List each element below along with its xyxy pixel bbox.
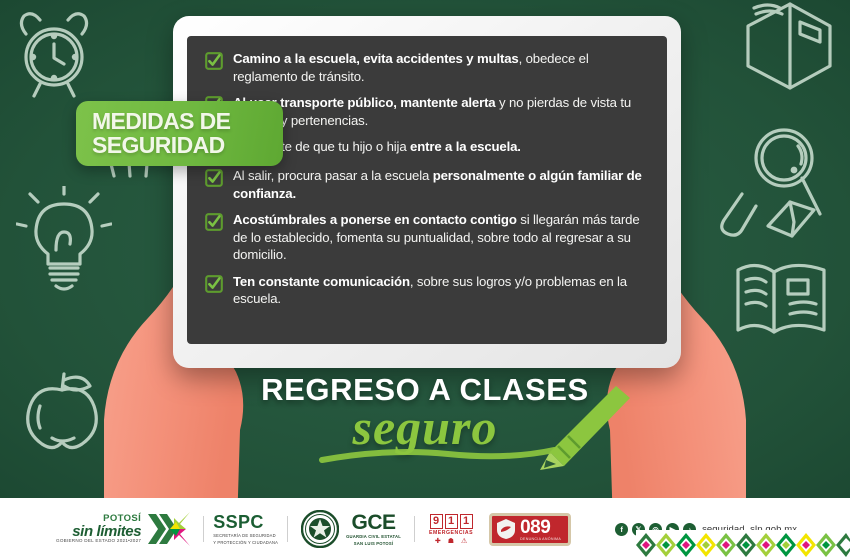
safety-tip-text: Al usar transporte público, mantente ale…: [233, 94, 651, 129]
safety-tip-text: Al salir, procura pasar a la escuela per…: [233, 167, 651, 202]
sspc-line-1: SECRETARÍA DE SEGURIDAD: [213, 533, 278, 538]
denuncia-089-logo: 089 DENUNCIA ANÓNIMA: [489, 513, 571, 546]
089-number: 089: [520, 518, 561, 537]
checkbox-checked-icon: [205, 52, 223, 70]
safety-tip-item: Ten constante comunicación, sobre sus lo…: [205, 273, 651, 308]
potosi-glyph-icon: [146, 510, 194, 548]
footer-bar: POTOSÍ sin límites GOBIERNO DEL ESTADO 2…: [0, 498, 850, 560]
logo-sspc: SSPC SECRETARÍA DE SEGURIDAD Y PROTECCIÓ…: [213, 513, 278, 545]
safety-tip-text: Camino a la escuela, evita accidentes y …: [233, 50, 651, 85]
911-label: EMERGENCIAS: [429, 530, 473, 536]
footer-divider-2: [287, 516, 288, 542]
911-digit-1: 9: [430, 514, 443, 529]
headline-block: REGRESO A CLASES seguro: [0, 372, 850, 449]
sspc-acronym: SSPC: [213, 513, 278, 531]
badge-line-2: SEGURIDAD: [92, 134, 230, 157]
underline-stroke: [318, 444, 558, 466]
safety-tips-list: Camino a la escuela, evita accidentes y …: [205, 50, 651, 308]
decorative-pattern-band: [636, 530, 850, 560]
089-label: DENUNCIA ANÓNIMA: [520, 537, 561, 541]
safety-tip-item: Acostúmbrales a ponerse en contacto cont…: [205, 211, 651, 264]
logo-potosi-sin-limites: POTOSÍ sin límites GOBIERNO DEL ESTADO 2…: [56, 510, 194, 548]
police-badge-icon: ☗: [448, 537, 454, 545]
badge-text: MEDIDAS DE SEGURIDAD: [92, 110, 230, 157]
poster-canvas: Camino a la escuela, evita accidentes y …: [0, 0, 850, 560]
tablet-screen: Camino a la escuela, evita accidentes y …: [187, 36, 667, 344]
medical-cross-icon: ✚: [435, 537, 441, 545]
gce-line-1: GUARDIA CIVIL ESTATAL: [346, 534, 401, 539]
facebook-icon[interactable]: f: [615, 523, 628, 536]
fire-icon: ⚠: [461, 537, 467, 545]
checkbox-checked-icon: [205, 213, 223, 231]
gce-acronym: GCE: [352, 512, 396, 533]
911-digits: 9 1 1: [430, 514, 473, 529]
gce-line-2: SAN LUIS POTOSÍ: [354, 541, 393, 546]
emergency-911-logo: 9 1 1 EMERGENCIAS ✚ ☗ ⚠: [429, 514, 473, 545]
911-service-icons: ✚ ☗ ⚠: [435, 537, 467, 545]
911-digit-3: 1: [460, 514, 473, 529]
safety-tip-item: Camino a la escuela, evita accidentes y …: [205, 50, 651, 85]
footer-divider-1: [203, 516, 204, 542]
safety-tip-item: Al salir, procura pasar a la escuela per…: [205, 167, 651, 202]
logo-gce: GCE GUARDIA CIVIL ESTATAL SAN LUIS POTOS…: [346, 512, 401, 546]
tablet-device: Camino a la escuela, evita accidentes y …: [173, 16, 681, 368]
safety-tip-text: Acostúmbrales a ponerse en contacto cont…: [233, 211, 651, 264]
shield-089-icon: [496, 518, 516, 540]
safety-tip-text: Ten constante comunicación, sobre sus lo…: [233, 273, 651, 308]
guardia-civil-seal-icon: [301, 510, 339, 548]
911-digit-2: 1: [445, 514, 458, 529]
potosi-line-2: sin límites: [56, 524, 141, 539]
footer-divider-3: [414, 516, 415, 542]
checkbox-checked-icon: [205, 275, 223, 293]
badge-line-1: MEDIDAS DE: [92, 110, 230, 133]
medidas-de-seguridad-badge: MEDIDAS DE SEGURIDAD: [76, 101, 283, 166]
checkbox-checked-icon: [205, 169, 223, 187]
sspc-line-2: Y PROTECCIÓN Y CIUDADANA: [213, 540, 278, 545]
headline-seguro: seguro: [0, 406, 850, 449]
potosi-line-3: GOBIERNO DEL ESTADO 2021•2027: [56, 539, 141, 544]
